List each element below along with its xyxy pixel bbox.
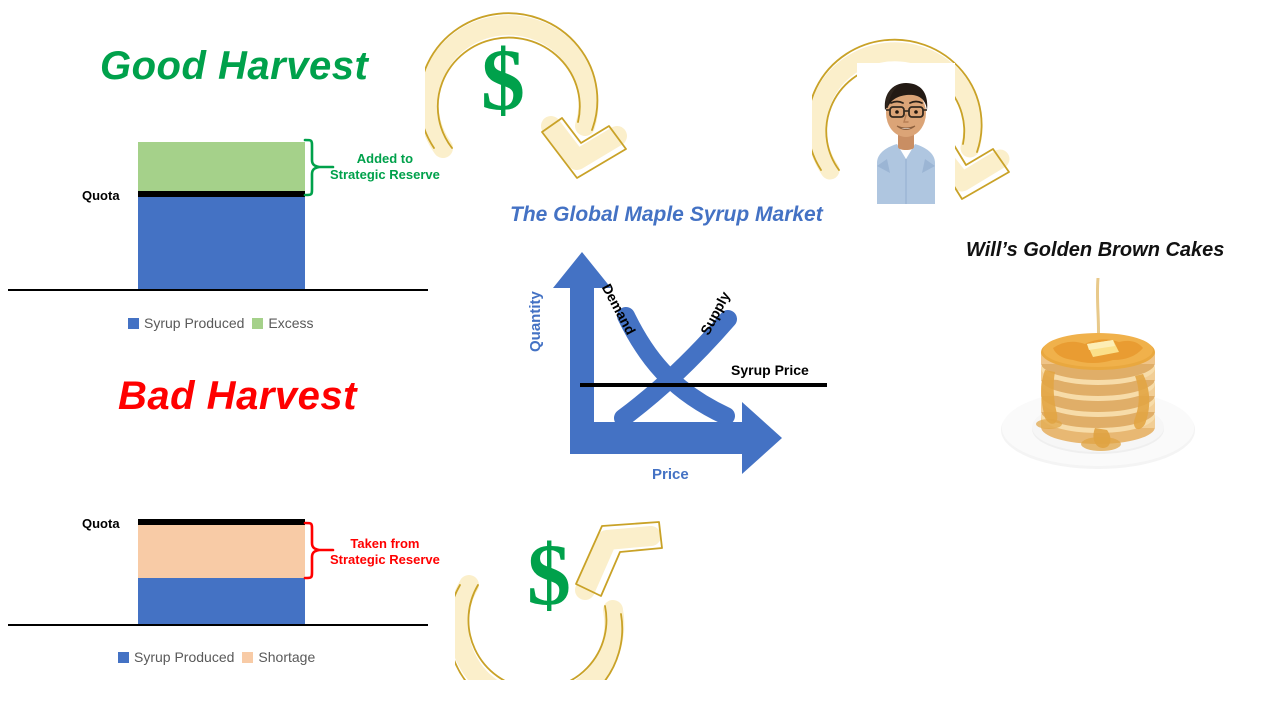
legend-swatch-excess	[252, 318, 263, 329]
bad-harvest-title: Bad Harvest	[118, 374, 357, 419]
added-label-line1: Added to	[330, 151, 440, 167]
added-label-line2: Strategic Reserve	[330, 167, 440, 183]
legend-label: Excess	[268, 315, 313, 331]
quota-label: Quota	[82, 516, 120, 531]
chart-baseline	[8, 289, 428, 291]
dollar-sign-icon: $	[527, 532, 571, 620]
quota-label: Quota	[82, 188, 120, 203]
pancakes-photo	[983, 278, 1213, 478]
legend-bad-harvest: Syrup Produced Shortage	[118, 649, 315, 665]
legend-label: Shortage	[258, 649, 315, 665]
legend-good-harvest: Syrup Produced Excess	[128, 315, 314, 331]
circular-arrow-clockwise-icon	[425, 8, 645, 183]
x-axis-label: Price	[652, 466, 689, 483]
legend-swatch-syrup-produced	[118, 652, 129, 663]
person-photo	[857, 63, 955, 204]
legend-swatch-shortage	[242, 652, 253, 663]
legend-item: Excess	[252, 315, 313, 331]
bar-segment-excess	[138, 142, 305, 193]
slide-canvas: Good Harvest Quota Added to Strategic Re…	[0, 0, 1280, 720]
legend-label: Syrup Produced	[144, 315, 244, 331]
bar-segment-syrup-produced	[138, 197, 305, 290]
legend-item: Syrup Produced	[118, 649, 234, 665]
dollar-sign-icon: $	[481, 37, 525, 125]
syrup-price-label: Syrup Price	[731, 362, 809, 378]
bar-segment-syrup-produced	[138, 578, 305, 625]
taken-label-line2: Strategic Reserve	[330, 552, 440, 568]
brand-title: Will’s Golden Brown Cakes	[966, 239, 1224, 262]
supply-demand-diagram	[510, 240, 820, 480]
legend-swatch-syrup-produced	[128, 318, 139, 329]
x-axis-arrow	[570, 402, 782, 474]
taken-label-line1: Taken from	[330, 536, 440, 552]
taken-from-reserve-label: Taken from Strategic Reserve	[330, 536, 440, 569]
legend-item: Shortage	[242, 649, 315, 665]
y-axis-label: Quantity	[527, 291, 544, 352]
legend-label: Syrup Produced	[134, 649, 234, 665]
market-title: The Global Maple Syrup Market	[510, 203, 823, 227]
legend-item: Syrup Produced	[128, 315, 244, 331]
y-axis-arrow	[553, 252, 611, 445]
bar-segment-shortage	[138, 525, 305, 578]
syrup-price-line	[580, 383, 827, 387]
chart-baseline	[8, 624, 428, 626]
good-harvest-title: Good Harvest	[100, 44, 368, 89]
added-to-reserve-label: Added to Strategic Reserve	[330, 151, 440, 184]
